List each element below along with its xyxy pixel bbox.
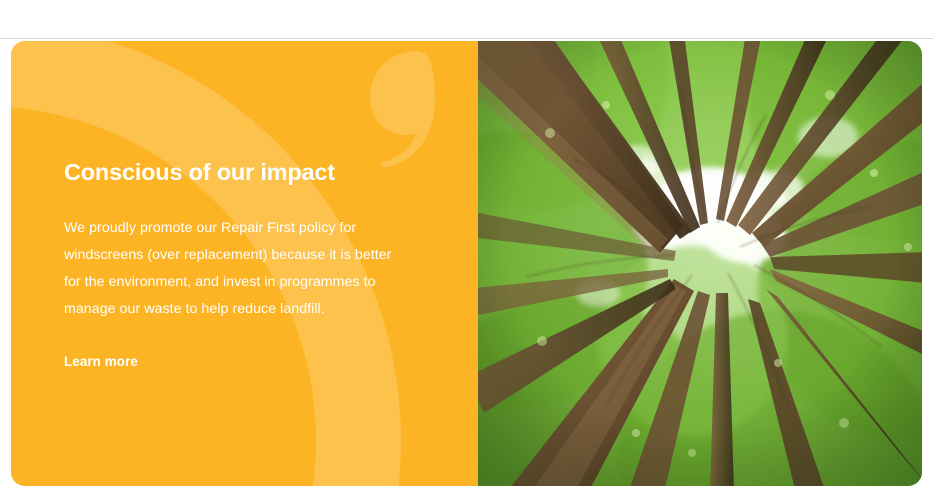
promo-text-panel: Conscious of our impact We proudly promo… (11, 41, 478, 486)
promo-page: Conscious of our impact We proudly promo… (0, 0, 933, 497)
promo-text-content: Conscious of our impact We proudly promo… (64, 159, 409, 371)
promo-title: Conscious of our impact (64, 159, 409, 185)
learn-more-link[interactable]: Learn more (64, 354, 138, 369)
promo-card: Conscious of our impact We proudly promo… (11, 41, 922, 486)
forest-canopy-photo (478, 41, 922, 486)
top-divider (0, 38, 933, 39)
promo-body-text: We proudly promote our Repair First poli… (64, 215, 409, 323)
quote-comma-icon (356, 47, 436, 167)
